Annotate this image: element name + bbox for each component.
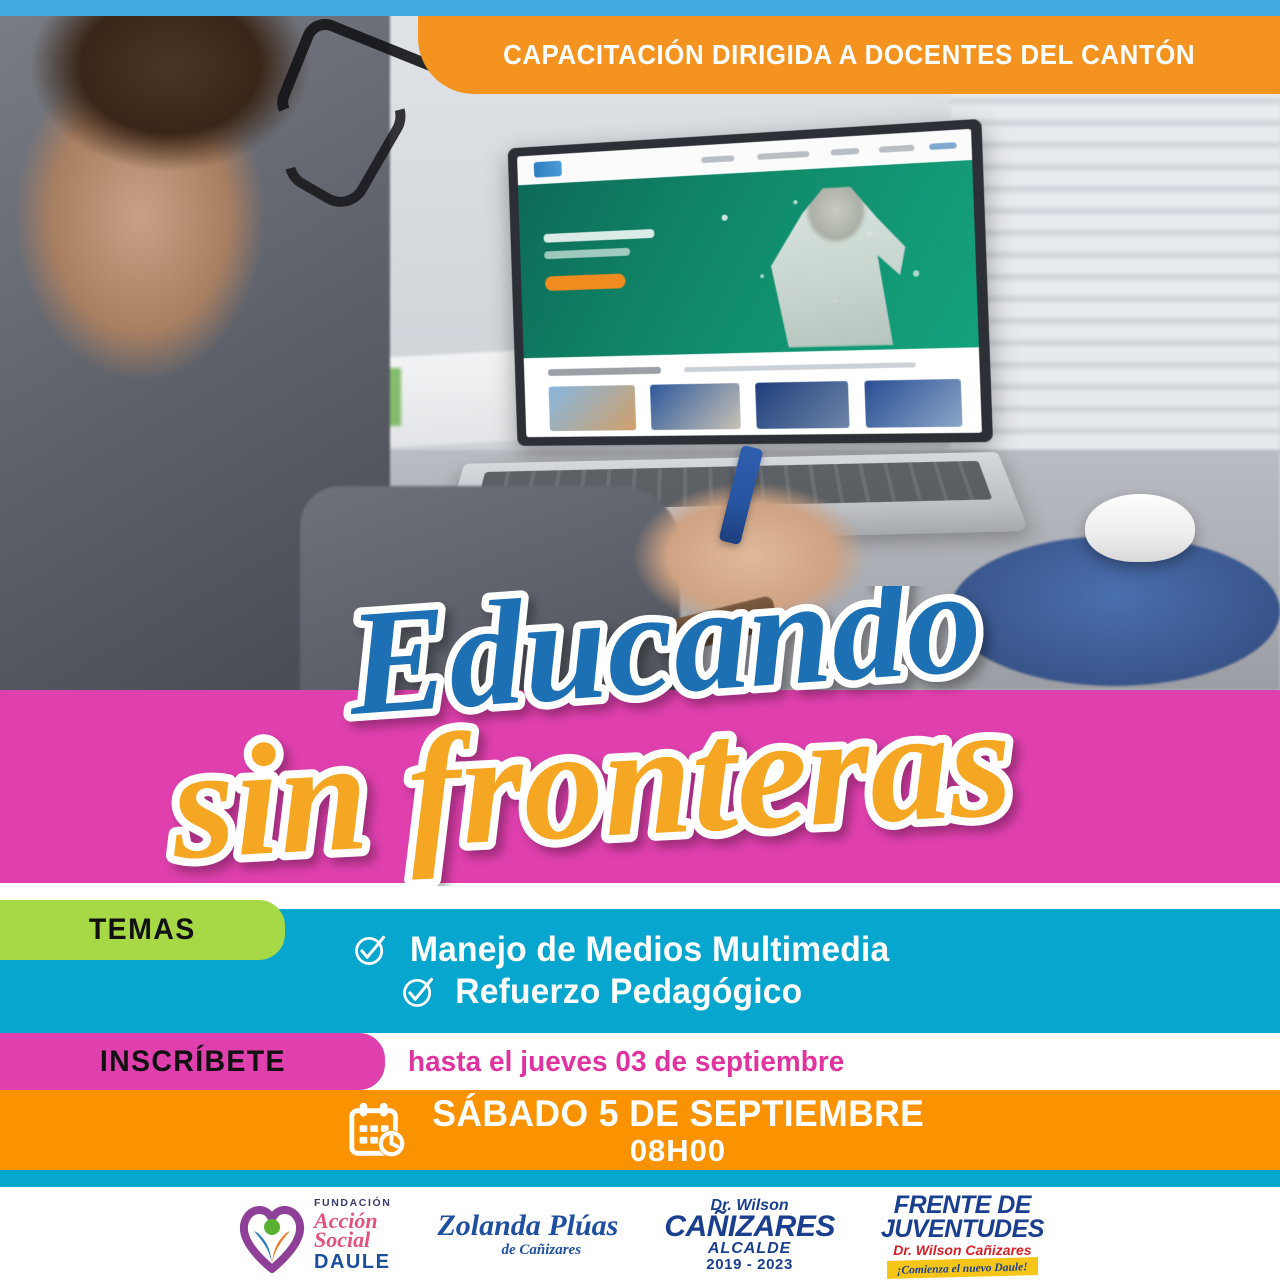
zolanda-surname: de Cañizares <box>501 1242 581 1259</box>
logo-frente-de-juventudes: FRENTE DE JUVENTUDES Dr. Wilson Cañizare… <box>881 1193 1044 1277</box>
photo-card <box>864 379 962 428</box>
inscribete-tab: INSCRÍBETE <box>0 1033 385 1090</box>
photo-card <box>650 383 741 430</box>
temas-item-label: Refuerzo Pedagógico <box>455 972 802 1012</box>
photo-laptop-display <box>517 129 982 437</box>
photo-website-hero <box>518 160 979 358</box>
photo-website-lower <box>524 349 982 437</box>
top-accent-strip <box>0 0 1280 16</box>
photo-nav-item <box>757 151 809 160</box>
photo-nav-item <box>929 142 957 150</box>
photo-mouse <box>1085 494 1195 562</box>
photo-card <box>549 385 637 431</box>
temas-list: Manejo de Medios Multimedia Refuerzo Ped… <box>352 930 1112 1014</box>
footer-logos: FUNDACIÓN Acción Social DAULE Zolanda Pl… <box>0 1190 1280 1280</box>
event-date-text: SÁBADO 5 DE SEPTIEMBRE 08H00 <box>422 1095 935 1166</box>
photo-lower-text <box>684 362 916 372</box>
cyan-divider-strip <box>0 1170 1280 1187</box>
logo-fundacion-accion-social-daule: FUNDACIÓN Acción Social DAULE <box>236 1193 391 1277</box>
temas-tab-label: TEMAS <box>89 913 196 947</box>
zolanda-name: Zolanda Plúas <box>437 1211 618 1241</box>
temas-item-label: Manejo de Medios Multimedia <box>410 930 889 970</box>
photo-hand <box>600 446 930 690</box>
frente-ribbon-text: ¡Comienza el nuevo Daule! <box>897 1261 1028 1276</box>
inscribete-deadline: hasta el jueves 03 de septiembre <box>408 1046 844 1079</box>
photo-laptop-screen <box>508 119 993 446</box>
calendar-clock-icon <box>346 1100 408 1162</box>
temas-item: Refuerzo Pedagógico <box>352 972 1112 1012</box>
event-date: SÁBADO 5 DE SEPTIEMBRE <box>432 1095 924 1132</box>
logo-zolanda-pluas: Zolanda Plúas de Cañizares <box>437 1193 618 1277</box>
check-circle-icon <box>352 932 388 968</box>
frente-line-2: JUVENTUDES <box>881 1217 1044 1242</box>
background-photo <box>0 16 1280 690</box>
frente-ribbon: ¡Comienza el nuevo Daule! <box>887 1257 1038 1279</box>
photo-card <box>755 381 849 429</box>
temas-item: Manejo de Medios Multimedia <box>352 930 1112 970</box>
poster: CAPACITACIÓN DIRIGIDA A DOCENTES DEL CAN… <box>0 0 1280 1280</box>
header-banner-text: CAPACITACIÓN DIRIGIDA A DOCENTES DEL CAN… <box>503 39 1195 71</box>
canizares-line-3: ALCALDE <box>708 1241 791 1257</box>
logo-wilson-canizares-alcalde: Dr. Wilson CAÑIZARES ALCALDE 2019 - 2023 <box>664 1193 835 1277</box>
event-time: 08H00 <box>630 1135 726 1166</box>
fundacion-line-4: DAULE <box>314 1252 390 1272</box>
event-date-banner: SÁBADO 5 DE SEPTIEMBRE 08H00 <box>0 1090 1280 1170</box>
photo-lower-title <box>548 367 661 376</box>
frente-line-3: Dr. Wilson Cañizares <box>893 1243 1031 1257</box>
heart-people-icon <box>236 1197 308 1273</box>
canizares-line-4: 2019 - 2023 <box>706 1257 793 1272</box>
photo-hero-button <box>545 273 626 291</box>
fundacion-wordmark: FUNDACIÓN Acción Social DAULE <box>314 1198 391 1272</box>
pink-band <box>0 690 1280 883</box>
check-circle-icon <box>400 974 436 1010</box>
photo-nav-item <box>701 155 735 163</box>
header-banner: CAPACITACIÓN DIRIGIDA A DOCENTES DEL CAN… <box>418 16 1280 94</box>
photo-hero-heading <box>543 229 654 243</box>
fundacion-line-3: Social <box>314 1229 370 1251</box>
photo-website-logo <box>534 161 562 178</box>
photo-nav-item <box>831 148 860 156</box>
photo-nav-item <box>879 145 915 153</box>
photo-hero-sub <box>544 248 630 259</box>
canizares-line-2: CAÑIZARES <box>664 1212 835 1242</box>
inscribete-tab-label: INSCRÍBETE <box>100 1045 286 1079</box>
temas-tab: TEMAS <box>0 900 285 960</box>
